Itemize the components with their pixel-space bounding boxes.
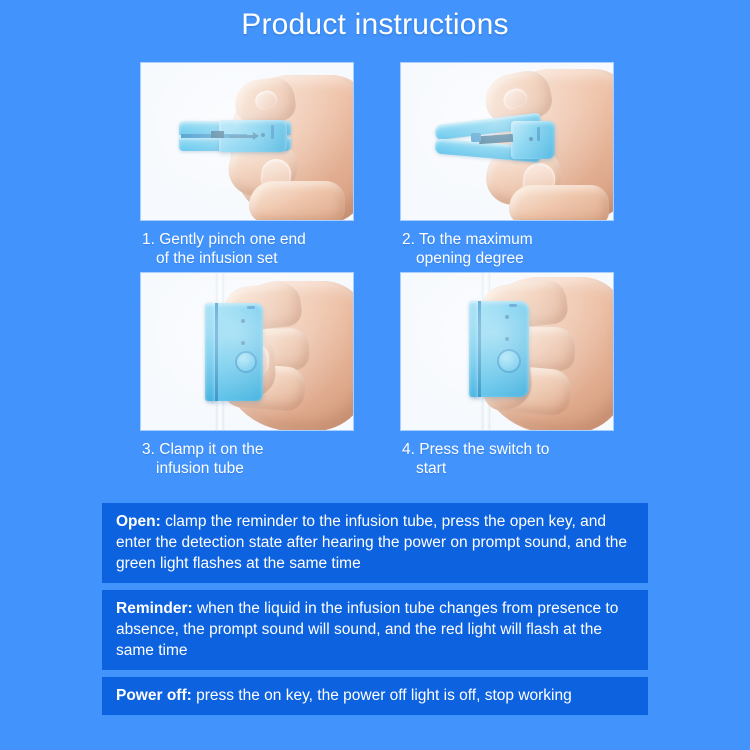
step-card-2: 2. To the maximum opening degree xyxy=(401,63,613,268)
info-box-reminder-label: Reminder: xyxy=(116,600,193,617)
info-box-list: Open: clamp the reminder to the infusion… xyxy=(102,503,648,722)
illustration-pinch-closed-clip xyxy=(141,63,353,220)
info-box-reminder: Reminder: when the liquid in the infusio… xyxy=(102,590,648,670)
info-box-open-text: clamp the reminder to the infusion tube,… xyxy=(116,513,627,572)
step-card-3: 3. Clamp it on the infusion tube xyxy=(141,273,353,478)
step-photo-3 xyxy=(141,273,353,430)
info-box-open-label: Open: xyxy=(116,513,161,530)
step-text-3-line1: Clamp it on the xyxy=(159,441,263,458)
step-text-4-line2: start xyxy=(402,459,613,478)
step-text-4-line1: Press the switch to xyxy=(419,441,549,458)
info-box-open: Open: clamp the reminder to the infusion… xyxy=(102,503,648,583)
step-number-4: 4. xyxy=(402,441,415,458)
step-card-1: 1. Gently pinch one end of the infusion … xyxy=(141,63,353,268)
step-caption-4: 4. Press the switch to start xyxy=(401,440,613,478)
page-title: Product instructions xyxy=(0,8,750,42)
step-card-4: 4. Press the switch to start xyxy=(401,273,613,478)
illustration-clamped-on-tube xyxy=(141,273,353,430)
info-box-power-off-text: press the on key, the power off light is… xyxy=(196,687,572,704)
steps-grid: 1. Gently pinch one end of the infusion … xyxy=(141,63,613,478)
illustration-clip-max-open xyxy=(401,63,613,220)
info-box-power-off: Power off: press the on key, the power o… xyxy=(102,677,648,715)
device-power-button xyxy=(497,349,521,373)
step-text-2-line1: To the maximum xyxy=(419,231,533,248)
step-caption-3: 3. Clamp it on the infusion tube xyxy=(141,440,353,478)
step-number-1: 1. xyxy=(142,231,155,248)
step-number-3: 3. xyxy=(142,441,155,458)
step-text-1-line2: of the infusion set xyxy=(142,249,353,268)
step-caption-2: 2. To the maximum opening degree xyxy=(401,230,613,268)
step-number-2: 2. xyxy=(402,231,415,248)
step-caption-1: 1. Gently pinch one end of the infusion … xyxy=(141,230,353,268)
step-text-2-line2: opening degree xyxy=(402,249,613,268)
info-box-power-off-label: Power off: xyxy=(116,687,192,704)
step-text-1-line1: Gently pinch one end xyxy=(159,231,306,248)
step-text-3-line2: infusion tube xyxy=(142,459,353,478)
step-photo-1 xyxy=(141,63,353,220)
step-photo-2 xyxy=(401,63,613,220)
illustration-press-switch xyxy=(401,273,613,430)
step-photo-4 xyxy=(401,273,613,430)
